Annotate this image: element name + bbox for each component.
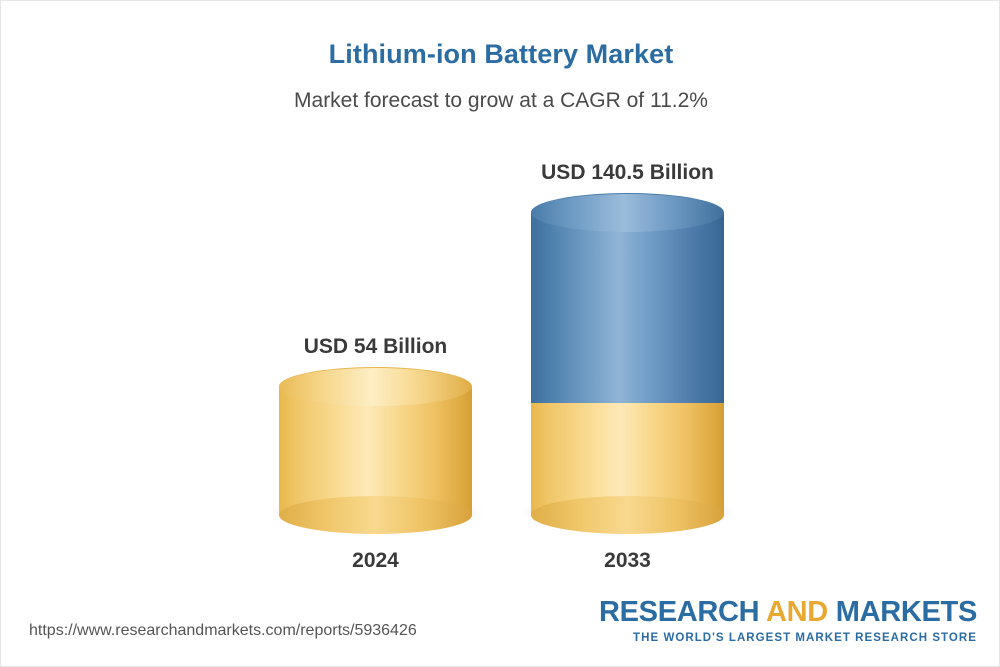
page-title: Lithium-ion Battery Market bbox=[1, 39, 1000, 70]
bar-top-ellipse-2033 bbox=[531, 193, 724, 232]
bar-category-label-2033: 2033 bbox=[604, 549, 651, 573]
brand-logo: RESEARCH AND MARKETS THE WORLD'S LARGEST… bbox=[599, 598, 977, 645]
bar-cylinder-2024 bbox=[279, 247, 472, 515]
brand-wordmark: RESEARCH AND MARKETS bbox=[599, 598, 977, 627]
bar-value-label-2033: USD 140.5 Billion bbox=[541, 161, 714, 185]
source-url[interactable]: https://www.researchandmarkets.com/repor… bbox=[29, 622, 417, 640]
bar-top-ellipse-2024 bbox=[279, 367, 472, 406]
chart-subtitle: Market forecast to grow at a CAGR of 11.… bbox=[1, 89, 1000, 113]
bar-cylinder-2033 bbox=[531, 247, 724, 515]
brand-tagline: THE WORLD'S LARGEST MARKET RESEARCH STOR… bbox=[599, 633, 977, 645]
bar-category-label-2024: 2024 bbox=[352, 549, 399, 573]
bar-body-2033 bbox=[531, 213, 724, 515]
bar-group-2033: USD 140.5 Billion 2033 bbox=[531, 131, 724, 581]
bar-bottom-ellipse-2024 bbox=[279, 496, 472, 534]
brand-word-research: RESEARCH bbox=[599, 596, 766, 628]
bar-bottom-ellipse-2033 bbox=[531, 496, 724, 534]
bar-group-2024: USD 54 Billion 2024 bbox=[279, 131, 472, 581]
brand-word-markets: MARKETS bbox=[828, 596, 977, 628]
plot-area: USD 54 Billion 2024 USD 140.5 Billion bbox=[1, 131, 1000, 581]
brand-word-and: AND bbox=[766, 596, 828, 628]
chart-page: Lithium-ion Battery Market Market foreca… bbox=[0, 0, 1000, 667]
